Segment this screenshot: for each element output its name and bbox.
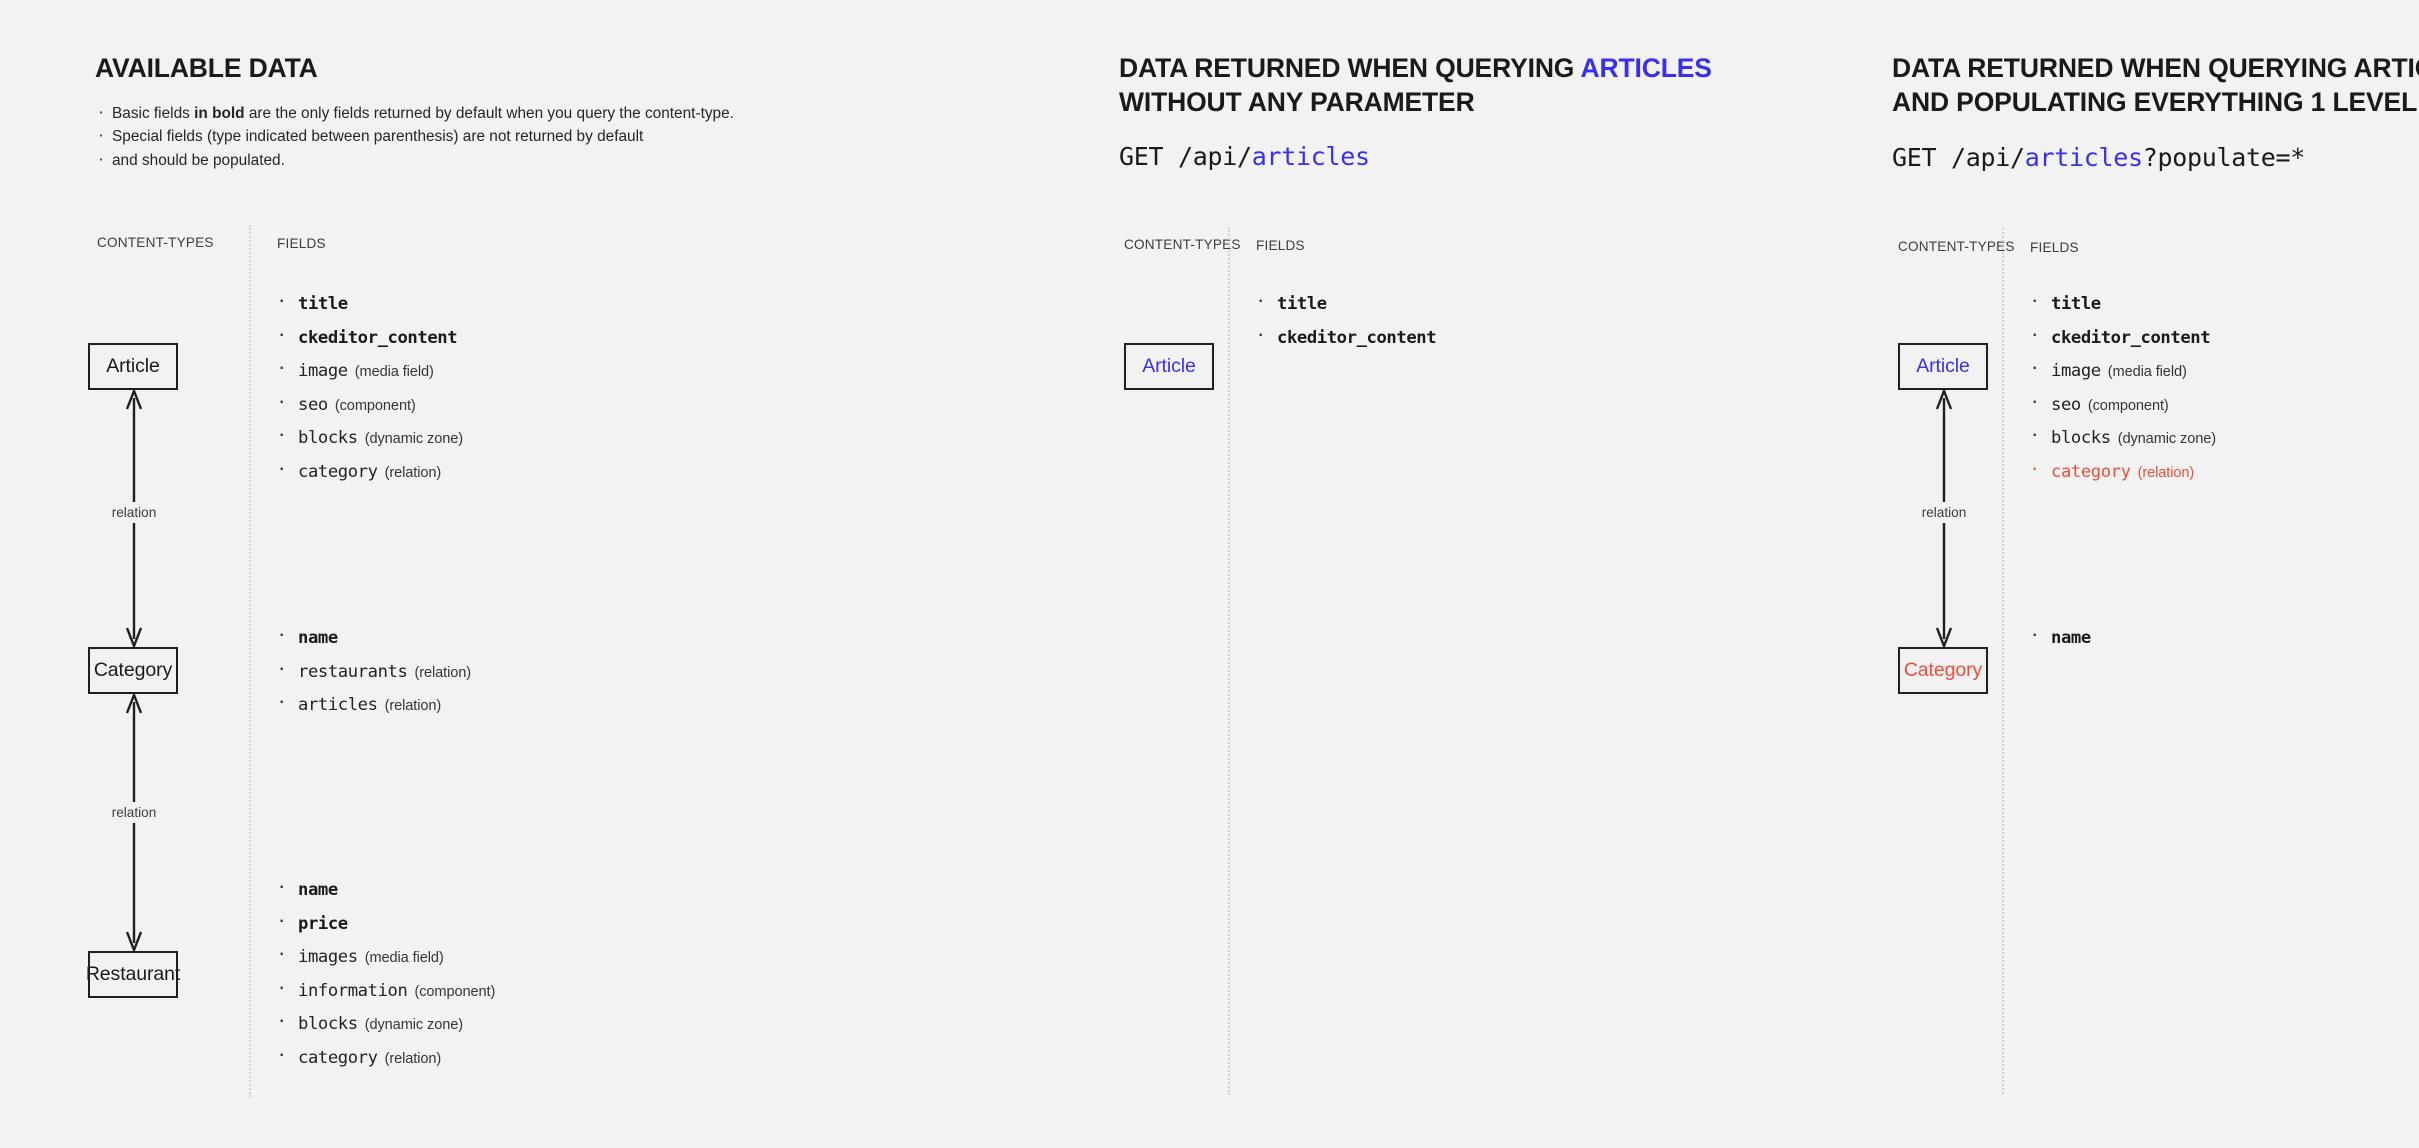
field-name: images (298, 947, 358, 967)
relation-label: relation (1917, 502, 1972, 523)
list-item: information(component) (272, 981, 495, 1001)
list-item: blocks(dynamic zone) (272, 428, 464, 448)
fields-label: FIELDS (2030, 240, 2079, 255)
column-query-no-parameter: DATA RETURNED WHEN QUERYING ARTICLES WIT… (1078, 0, 1848, 1148)
endpoint-resource: articles (2025, 143, 2143, 172)
endpoint-prefix: GET /api/ (1119, 142, 1252, 171)
intro-text: Special fields (type indicated between p… (112, 128, 643, 145)
field-name: name (298, 628, 338, 648)
field-name: ckeditor_content (2051, 328, 2210, 348)
field-name: seo (298, 395, 328, 415)
field-name: title (298, 294, 348, 314)
list-item: price (272, 914, 495, 934)
list-item: ckeditor_content (2025, 328, 2217, 348)
column-query-populate-deep: DATA RETURNED WHEN QUERYING ARTICLES AND… (1848, 0, 2419, 1148)
content-types-label: CONTENT-TYPES (97, 235, 214, 250)
list-item: blocks(dynamic zone) (272, 1014, 495, 1034)
field-type: (media field) (355, 364, 434, 380)
field-name: category (298, 462, 378, 482)
entity-box-restaurant[interactable]: Restaurant (88, 951, 178, 998)
fields-label: FIELDS (277, 236, 326, 251)
field-type: (relation) (385, 465, 442, 481)
list-item: Special fields (type indicated between p… (95, 125, 855, 148)
field-name: price (298, 914, 348, 934)
entity-label: Category (1904, 659, 1982, 682)
entity-box-article[interactable]: Article (1124, 343, 1214, 390)
page-title: AVAILABLE DATA (95, 52, 318, 86)
content-types-label: CONTENT-TYPES (1898, 239, 2015, 254)
field-name: blocks (298, 428, 358, 448)
entity-box-article[interactable]: Article (1898, 343, 1988, 390)
endpoint-resource: articles (1252, 142, 1370, 171)
field-name: ckeditor_content (298, 328, 457, 348)
field-list-category: name restaurants(relation) articles(rela… (272, 628, 471, 729)
field-name: image (298, 361, 348, 381)
list-item: Basic fields in bold are the only fields… (95, 102, 855, 125)
title-text: DATA RETURNED WHEN QUERYING (1119, 53, 1581, 83)
entity-label: Category (94, 659, 172, 682)
list-item: name (272, 880, 495, 900)
content-types-label: CONTENT-TYPES (1124, 237, 1241, 252)
list-item-highlighted: category(relation) (2025, 462, 2217, 482)
title-accent: ARTICLES (1581, 53, 1712, 83)
section-title-line2: AND POPULATING EVERYTHING 1 LEVEL DEEP (1892, 86, 2419, 120)
entity-label: Article (1142, 355, 1195, 378)
list-item: seo(component) (2025, 395, 2217, 415)
list-item: articles(relation) (272, 695, 471, 715)
section-title-line1: DATA RETURNED WHEN QUERYING ARTICLES (1892, 52, 2419, 86)
field-type: (media field) (365, 950, 444, 966)
intro-legend: Basic fields in bold are the only fields… (95, 102, 855, 172)
entity-box-category[interactable]: Category (88, 647, 178, 694)
field-list-restaurant: name price images(media field) informati… (272, 880, 495, 1082)
intro-text: Basic fields (112, 105, 194, 122)
entity-box-article[interactable]: Article (88, 343, 178, 390)
list-item: ckeditor_content (272, 328, 464, 348)
field-name: name (298, 880, 338, 900)
field-list-category: name (2025, 628, 2098, 662)
endpoint-prefix: GET /api/ (1892, 143, 2025, 172)
fields-label: FIELDS (1256, 238, 1305, 253)
field-name: articles (298, 695, 378, 715)
list-item: restaurants(relation) (272, 662, 471, 682)
field-type: (relation) (385, 1051, 442, 1067)
divider-dotted (249, 225, 251, 1097)
field-name: category (2051, 462, 2131, 482)
field-type: (dynamic zone) (2118, 431, 2216, 447)
field-name: blocks (298, 1014, 358, 1034)
section-title-line2: WITHOUT ANY PARAMETER (1119, 86, 1475, 120)
list-item: image(media field) (272, 361, 464, 381)
endpoint-line: GET /api/articles?populate=* (1892, 143, 2305, 172)
field-name: category (298, 1048, 378, 1068)
intro-bold: in bold (194, 105, 244, 122)
relation-label: relation (107, 502, 162, 523)
list-item: category(relation) (272, 462, 464, 482)
list-item: ckeditor_content (1251, 328, 1443, 348)
field-name: seo (2051, 395, 2081, 415)
intro-text: and should be populated. (112, 149, 855, 172)
field-name: restaurants (298, 662, 407, 682)
field-type: (component) (335, 398, 416, 414)
field-name: ckeditor_content (1277, 328, 1436, 348)
endpoint-suffix: ?populate=* (2143, 143, 2305, 172)
field-list-article: title ckeditor_content (1251, 294, 1443, 361)
field-type: (dynamic zone) (365, 1017, 463, 1033)
divider-dotted (2002, 228, 2004, 1094)
field-name: title (1277, 294, 1327, 314)
list-item: image(media field) (2025, 361, 2217, 381)
field-type: (relation) (414, 665, 471, 681)
list-item-continuation: and should be populated. (95, 149, 855, 172)
field-type: (component) (414, 984, 495, 1000)
field-type: (media field) (2108, 364, 2187, 380)
section-title-line1: DATA RETURNED WHEN QUERYING ARTICLES (1119, 52, 1712, 86)
list-item: category(relation) (272, 1048, 495, 1068)
list-item: title (1251, 294, 1443, 314)
field-list-article: title ckeditor_content image(media field… (272, 294, 464, 496)
field-type: (relation) (2138, 465, 2195, 481)
entity-label: Article (1916, 355, 1969, 378)
relation-label: relation (107, 802, 162, 823)
list-item: images(media field) (272, 947, 495, 967)
field-name: information (298, 981, 407, 1001)
column-available-data: AVAILABLE DATA Basic fields in bold are … (0, 0, 1078, 1148)
entity-label: Restaurant (86, 963, 180, 986)
entity-label: Article (106, 355, 159, 378)
field-name: image (2051, 361, 2101, 381)
list-item: blocks(dynamic zone) (2025, 428, 2217, 448)
field-type: (relation) (385, 698, 442, 714)
list-item: seo(component) (272, 395, 464, 415)
endpoint-line: GET /api/articles (1119, 142, 1370, 171)
field-list-article: title ckeditor_content image(media field… (2025, 294, 2217, 496)
field-type: (dynamic zone) (365, 431, 463, 447)
field-name: title (2051, 294, 2101, 314)
list-item: name (272, 628, 471, 648)
list-item: title (2025, 294, 2217, 314)
field-name: blocks (2051, 428, 2111, 448)
divider-dotted (1228, 227, 1230, 1095)
list-item: name (2025, 628, 2098, 648)
entity-box-category[interactable]: Category (1898, 647, 1988, 694)
list-item: title (272, 294, 464, 314)
field-name: name (2051, 628, 2091, 648)
intro-text-tail: are the only fields returned by default … (245, 105, 734, 122)
field-type: (component) (2088, 398, 2169, 414)
